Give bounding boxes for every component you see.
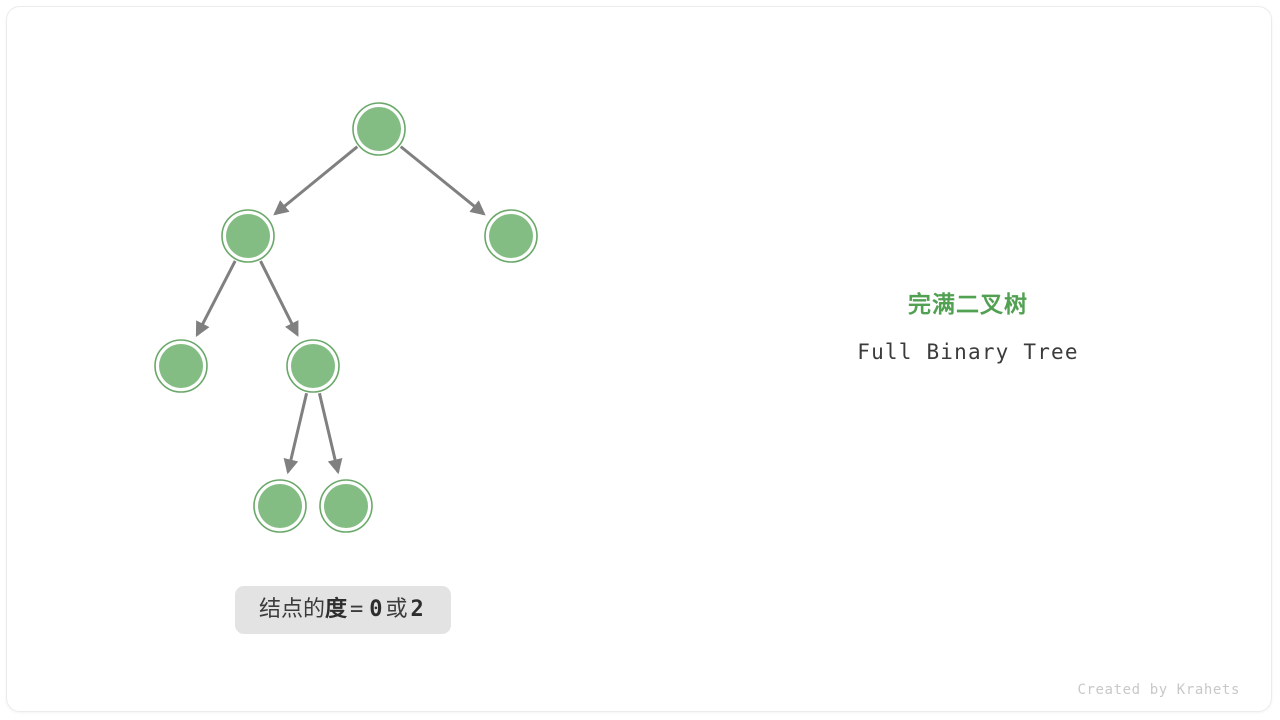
page-subtitle: Full Binary Tree <box>728 338 1208 366</box>
tree-edge <box>197 261 235 335</box>
tree-edge <box>288 393 307 472</box>
credit-label: Created by Krahets <box>1077 682 1240 698</box>
tree-edge <box>275 147 357 214</box>
title-block: 完满二叉树 Full Binary Tree <box>728 290 1208 366</box>
caption-value-two: 2 <box>408 597 427 623</box>
tree-edge <box>319 393 338 472</box>
caption-degree-word: 度 <box>325 597 347 623</box>
tree-edges <box>197 147 484 472</box>
tree-node-disc <box>324 484 368 528</box>
tree-node <box>320 480 372 532</box>
tree-node-disc <box>357 107 401 151</box>
tree-node <box>485 210 537 262</box>
tree-node <box>353 103 405 155</box>
caption-badge: 结点的 度 = 0 或 2 <box>235 586 451 634</box>
tree-node-disc <box>489 214 533 258</box>
caption-part1: 结点的 <box>259 597 325 623</box>
tree-edge <box>261 261 298 335</box>
caption-equals: = <box>347 597 366 623</box>
page-title: 完满二叉树 <box>728 290 1208 320</box>
tree-node-disc <box>291 344 335 388</box>
tree-node <box>254 480 306 532</box>
tree-node-disc <box>226 214 270 258</box>
tree-node-disc <box>159 344 203 388</box>
tree-node <box>155 340 207 392</box>
tree-node-disc <box>258 484 302 528</box>
tree-node <box>287 340 339 392</box>
diagram-canvas: 完满二叉树 Full Binary Tree 结点的 度 = 0 或 2 Cre… <box>0 0 1280 720</box>
tree-edge <box>401 147 484 214</box>
tree-node <box>222 210 274 262</box>
caption-value-zero: 0 <box>366 597 385 623</box>
tree-nodes <box>155 103 537 532</box>
caption-conjunction: 或 <box>386 597 408 623</box>
